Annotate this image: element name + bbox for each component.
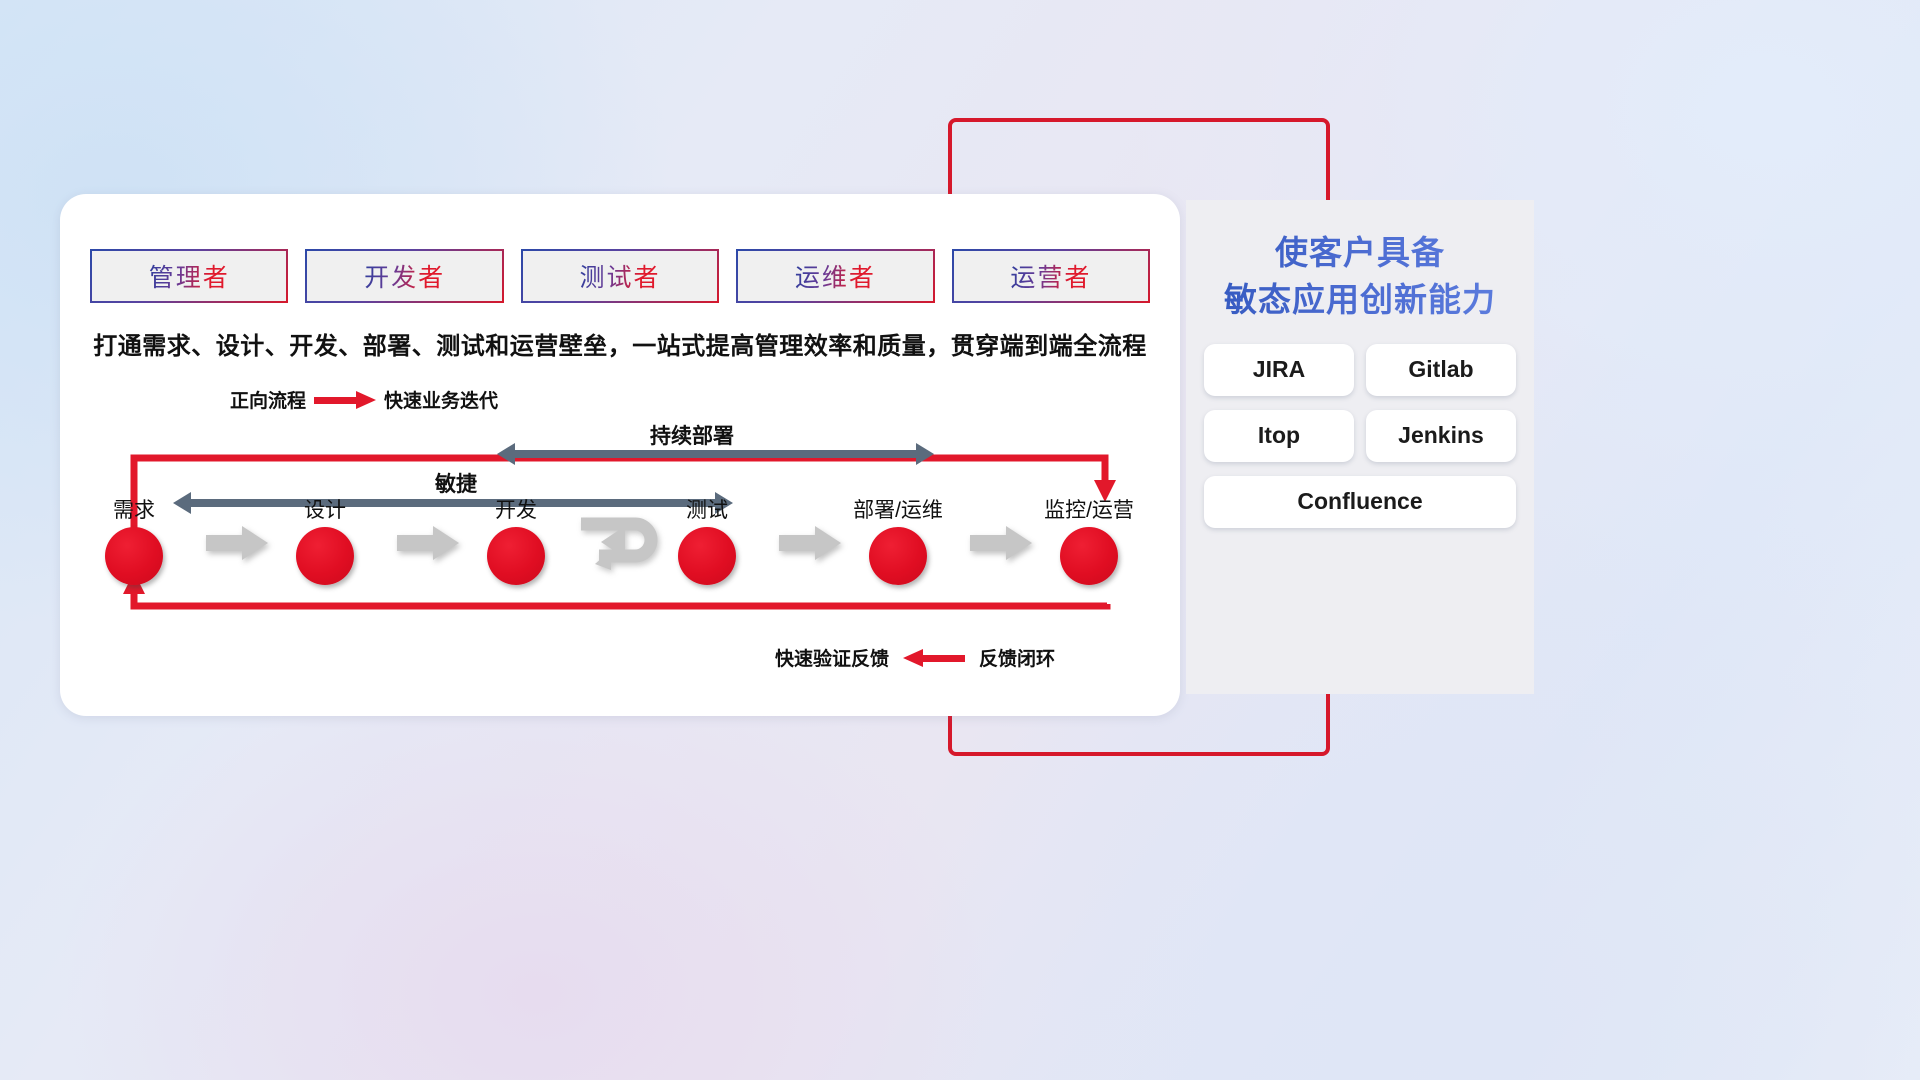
role-box-inner: 运营者 xyxy=(954,251,1148,301)
tool-item-jira[interactable]: JIRA xyxy=(1204,344,1354,396)
pipeline-stage-requirement[interactable]: 需求 xyxy=(74,494,194,585)
tool-item-gitlab[interactable]: Gitlab xyxy=(1366,344,1516,396)
role-box-inner: 运维者 xyxy=(738,251,932,301)
role-box-developer[interactable]: 开发者 xyxy=(305,249,503,303)
value-proposition-panel: 使客户具备 敏态应用创新能力 JIRA Gitlab Itop Jenkins … xyxy=(1186,200,1534,694)
role-label: 运营者 xyxy=(1010,258,1091,294)
feedback-result-label: 快速验证反馈 xyxy=(775,644,889,671)
role-box-inner: 测试者 xyxy=(523,251,717,301)
panel-heading: 使客户具备 敏态应用创新能力 xyxy=(1186,200,1534,324)
panel-title-line2: 敏态应用创新能力 xyxy=(1186,277,1534,324)
stage-label: 需求 xyxy=(74,494,194,524)
role-box-inner: 管理者 xyxy=(92,251,286,301)
role-label: 测试者 xyxy=(580,258,661,294)
role-box-operations[interactable]: 运营者 xyxy=(952,249,1150,303)
role-box-row: 管理者 开发者 测试者 运维者 运营者 xyxy=(90,249,1150,303)
role-box-ops[interactable]: 运维者 xyxy=(736,249,934,303)
role-label: 开发者 xyxy=(364,258,445,294)
chevron-arrow-icon xyxy=(206,526,268,560)
tool-item-jenkins[interactable]: Jenkins xyxy=(1366,410,1516,462)
stage-dot xyxy=(869,527,927,585)
role-box-inner: 开发者 xyxy=(307,251,501,301)
pipeline-stage-monitor-operations[interactable]: 监控/运营 xyxy=(1029,494,1149,585)
pipeline-stage-design[interactable]: 设计 xyxy=(265,494,385,585)
right-arrow-icon xyxy=(314,391,376,409)
stage-dot xyxy=(296,527,354,585)
role-box-tester[interactable]: 测试者 xyxy=(521,249,719,303)
panel-title-line1: 使客户具备 xyxy=(1186,230,1534,277)
role-label: 运维者 xyxy=(795,258,876,294)
role-label: 管理者 xyxy=(149,258,230,294)
tool-item-confluence[interactable]: Confluence xyxy=(1204,476,1516,528)
forward-flow-label: 正向流程 xyxy=(230,386,306,413)
left-arrow-icon xyxy=(903,649,965,667)
stage-dot xyxy=(1060,527,1118,585)
chevron-arrow-icon xyxy=(779,526,841,560)
pipeline-stage-testing[interactable]: 测试 xyxy=(647,494,767,585)
description-text: 打通需求、设计、开发、部署、测试和运营壁垒，一站式提高管理效率和质量，贯穿端到端… xyxy=(60,326,1180,361)
stage-label: 部署/运维 xyxy=(838,494,958,524)
stage-dot xyxy=(678,527,736,585)
role-box-manager[interactable]: 管理者 xyxy=(90,249,288,303)
stage-label: 监控/运营 xyxy=(1029,494,1149,524)
devops-pipeline: 需求 设计 开发 测试 xyxy=(60,494,1180,604)
tool-list: JIRA Gitlab Itop Jenkins Confluence xyxy=(1186,344,1534,528)
chevron-arrow-icon xyxy=(970,526,1032,560)
pipeline-stage-development[interactable]: 开发 xyxy=(456,494,576,585)
stage-label: 测试 xyxy=(647,494,767,524)
stage-dot xyxy=(487,527,545,585)
forward-flow-result: 快速业务迭代 xyxy=(384,386,498,413)
tool-item-itop[interactable]: Itop xyxy=(1204,410,1354,462)
continuous-deployment-arrow xyxy=(497,443,934,465)
stage-dot xyxy=(105,527,163,585)
feedback-annotation: 快速验证反馈 反馈闭环 xyxy=(775,644,1055,671)
stage-label: 设计 xyxy=(265,494,385,524)
pipeline-stage-deploy-ops[interactable]: 部署/运维 xyxy=(838,494,958,585)
main-diagram-card: 管理者 开发者 测试者 运维者 运营者 打通需求、设计、开发、部署、测试和运营壁… xyxy=(60,194,1180,716)
stage-label: 开发 xyxy=(456,494,576,524)
feedback-loop-label: 反馈闭环 xyxy=(979,644,1055,671)
forward-flow-annotation: 正向流程 快速业务迭代 xyxy=(230,386,498,413)
chevron-arrow-icon xyxy=(397,526,459,560)
